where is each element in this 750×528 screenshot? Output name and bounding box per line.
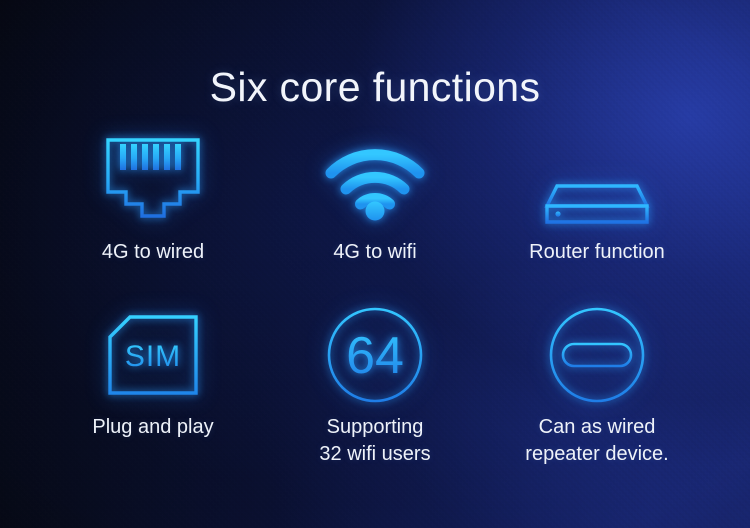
user-count-circle-icon: 64 — [325, 305, 425, 405]
feature-item-4g-to-wired[interactable]: 4G to wired — [42, 125, 264, 300]
icon-slot — [100, 125, 206, 235]
feature-caption-line-1: Supporting — [319, 414, 430, 441]
user-count-label: 64 — [346, 327, 404, 385]
feature-item-router-function[interactable]: Router function — [486, 125, 708, 300]
feature-caption: Can as wired repeater device. — [525, 414, 668, 468]
feature-caption-line-1: Can as wired — [525, 414, 668, 441]
feature-item-4g-to-wifi[interactable]: 4G to wifi — [264, 125, 486, 300]
feature-item-plug-and-play[interactable]: SIM Plug and play — [42, 300, 264, 480]
icon-slot — [325, 125, 425, 235]
feature-caption-line-2: 32 wifi users — [319, 441, 430, 468]
ethernet-socket-circle-icon — [547, 305, 647, 405]
feature-caption: Router function — [529, 239, 665, 266]
ethernet-rj45-icon — [100, 134, 206, 226]
sim-card-label: SIM — [125, 340, 181, 373]
icon-slot: 64 — [325, 300, 425, 410]
router-icon — [531, 130, 663, 230]
icon-slot: SIM — [104, 300, 202, 410]
feature-item-wired-repeater[interactable]: Can as wired repeater device. — [486, 300, 708, 480]
promo-banner: Six core functions — [0, 0, 750, 528]
feature-caption: Supporting 32 wifi users — [319, 414, 430, 468]
feature-caption: 4G to wired — [102, 239, 204, 266]
feature-item-supporting-wifi-users[interactable]: 64 Supporting 32 wifi users — [264, 300, 486, 480]
feature-grid: 4G to wired — [42, 125, 708, 480]
icon-slot — [531, 125, 663, 235]
feature-caption-line-2: repeater device. — [525, 441, 668, 468]
feature-caption: Plug and play — [92, 414, 213, 441]
page-title: Six core functions — [0, 67, 750, 108]
sim-card-icon: SIM — [104, 313, 202, 397]
icon-slot — [547, 300, 647, 410]
wifi-signal-icon — [325, 137, 425, 223]
feature-caption: 4G to wifi — [333, 239, 416, 266]
